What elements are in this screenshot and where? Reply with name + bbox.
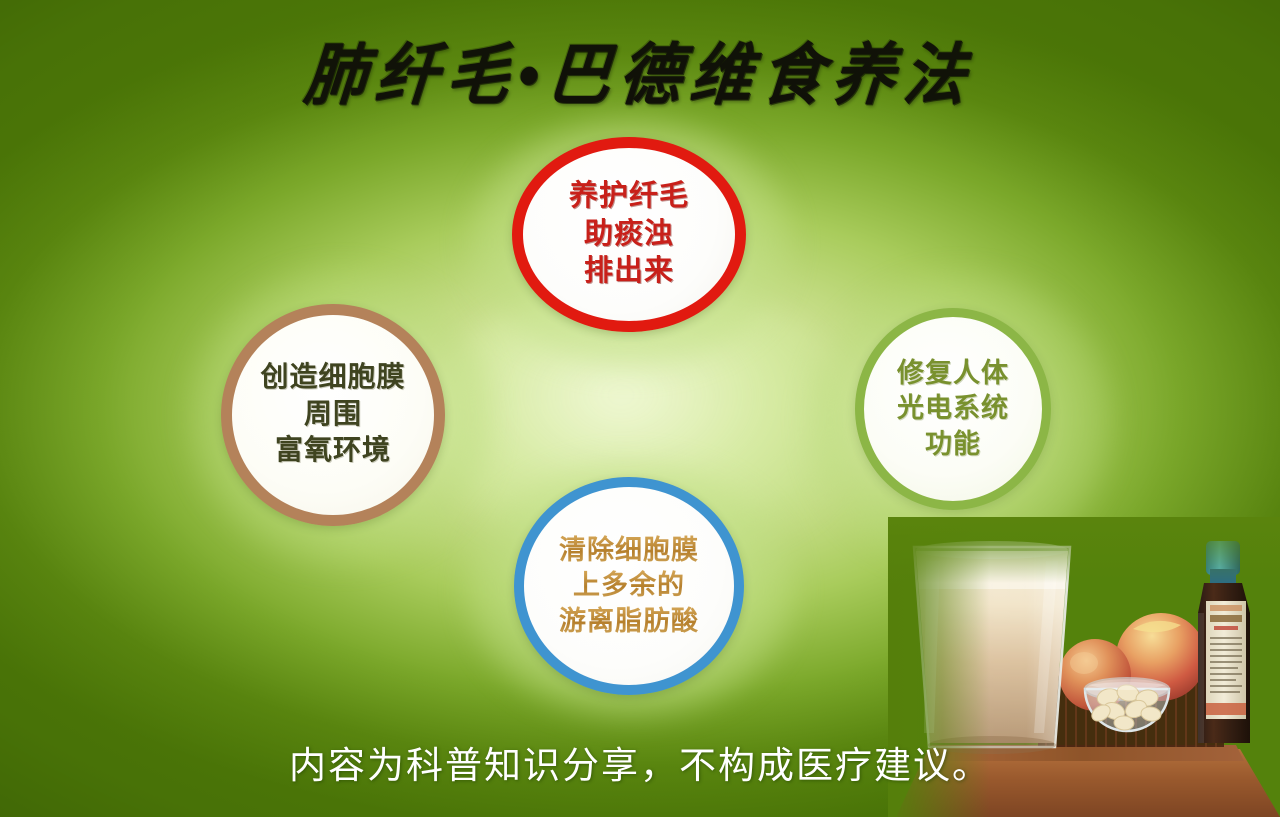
bubble-right-line-2: 光电系统 xyxy=(897,391,1009,426)
bubble-right-photoelectric-system: 修复人体 光电系统 功能 xyxy=(855,308,1051,510)
bubble-bottom-line-3: 游离脂肪酸 xyxy=(559,604,699,639)
bubble-right-line-3: 功能 xyxy=(925,427,981,462)
bubble-top-nurture-cilia: 养护纤毛 助痰浊 排出来 xyxy=(512,137,746,332)
poster-canvas: 肺纤毛•巴德维食养法 养护纤毛 助痰浊 排出来 创造细胞膜 周围 富氧环境 修复… xyxy=(0,0,1280,817)
bubble-left-line-1: 创造细胞膜 xyxy=(260,360,405,396)
bubble-left-line-2: 周围 xyxy=(304,397,362,433)
bubble-bottom-line-2: 上多余的 xyxy=(573,568,685,603)
bubble-left-line-3: 富氧环境 xyxy=(275,433,391,469)
bubble-left-oxygen-rich-environment: 创造细胞膜 周围 富氧环境 xyxy=(221,304,445,526)
bubble-top-line-1: 养护纤毛 xyxy=(569,178,689,216)
bubble-top-line-2: 助痰浊 xyxy=(584,216,674,254)
page-title: 肺纤毛•巴德维食养法 xyxy=(0,20,1280,117)
bubble-top-line-3: 排出来 xyxy=(584,253,674,291)
bubble-bottom-free-fatty-acids: 清除细胞膜 上多余的 游离脂肪酸 xyxy=(514,477,744,695)
bubble-right-line-1: 修复人体 xyxy=(897,356,1009,391)
disclaimer-caption: 内容为科普知识分享，不构成医疗建议。 xyxy=(0,735,1280,789)
bubble-bottom-line-1: 清除细胞膜 xyxy=(559,533,699,568)
